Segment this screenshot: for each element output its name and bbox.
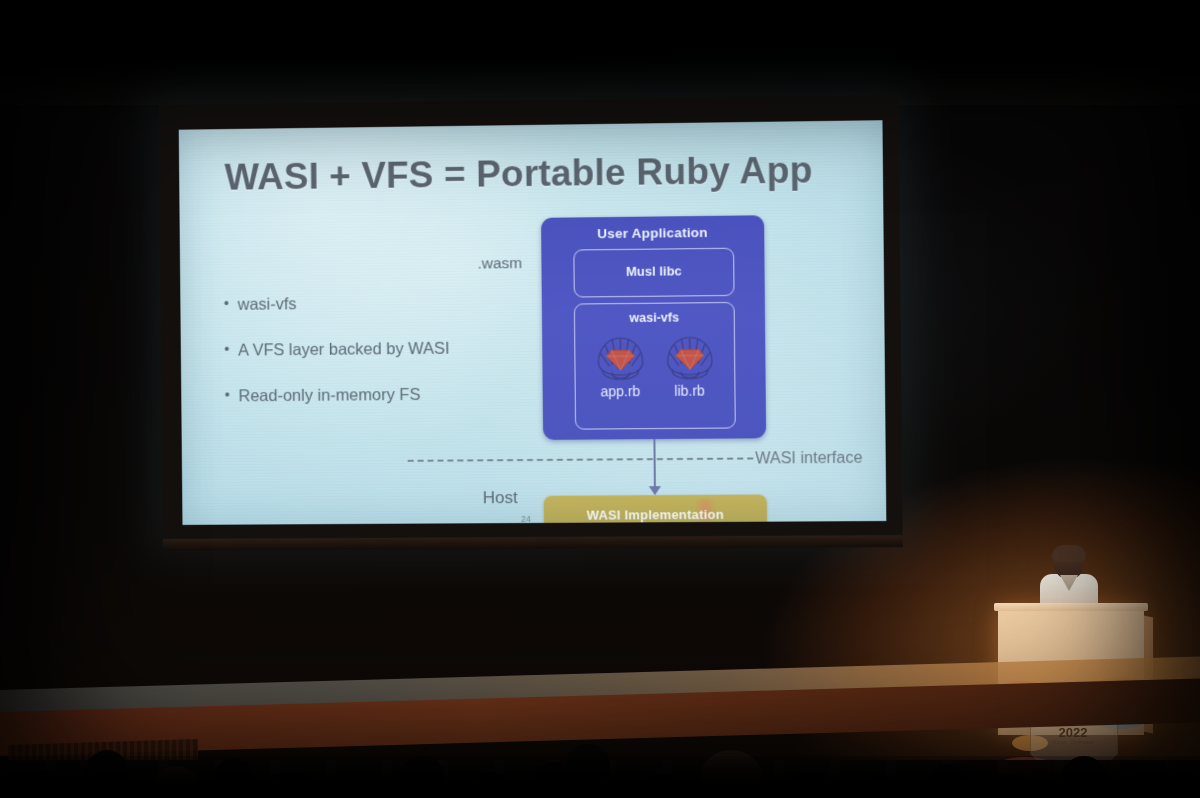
bullet-text: wasi-vfs xyxy=(238,295,297,315)
bullet-marker-icon: • xyxy=(224,341,238,358)
musl-libc-box: Musl libc xyxy=(573,248,734,298)
vfs-file-name: lib.rb xyxy=(659,382,720,399)
bullet-text: A VFS layer backed by WASI xyxy=(238,340,450,362)
slide-title: WASI + VFS = Portable Ruby App xyxy=(224,149,812,198)
speaker-hair xyxy=(1052,545,1086,562)
vfs-file-name: app.rb xyxy=(590,383,650,400)
arrow-down-icon xyxy=(649,486,661,495)
bullet-item: • A VFS layer backed by WASI xyxy=(224,339,522,361)
wasm-label: .wasm xyxy=(477,255,522,273)
slide-bullet-list: • wasi-vfs • A VFS layer backed by WASI … xyxy=(224,293,523,433)
projection-screen: WASI + VFS = Portable Ruby App • wasi-vf… xyxy=(159,95,903,542)
podium-top-surface xyxy=(994,603,1148,611)
wasi-interface-dashed-line xyxy=(408,457,754,461)
bullet-text: Read-only in-memory FS xyxy=(238,385,420,406)
user-application-box: User Application Musl libc wasi-vfs xyxy=(541,215,766,440)
bullet-marker-icon: • xyxy=(224,296,238,313)
user-application-title: User Application xyxy=(541,224,764,242)
ruby-shell-icon xyxy=(594,332,647,383)
dark-ceiling xyxy=(0,0,1200,105)
ruby-shell-icon xyxy=(663,331,716,382)
bullet-item: • Read-only in-memory FS xyxy=(225,385,523,407)
wasi-vfs-label: wasi-vfs xyxy=(575,310,734,326)
wasi-vfs-box: wasi-vfs xyxy=(574,302,736,430)
vfs-file-item: lib.rb xyxy=(659,331,720,399)
wasi-implementation-box: WASI Implementation xyxy=(544,495,767,525)
foreground-shadow xyxy=(0,756,1200,798)
musl-libc-label: Musl libc xyxy=(574,263,733,280)
vfs-file-item: app.rb xyxy=(590,332,651,400)
presentation-slide: WASI + VFS = Portable Ruby App • wasi-vf… xyxy=(179,120,887,525)
bullet-item: • wasi-vfs xyxy=(224,293,522,316)
bullet-marker-icon: • xyxy=(225,387,239,404)
conference-photo-scene: WASI + VFS = Portable Ruby App • wasi-vf… xyxy=(0,0,1200,798)
wasi-implementation-label: WASI Implementation xyxy=(544,507,767,523)
slide-page-number: 24 xyxy=(521,514,531,524)
diagram-connector-line xyxy=(653,439,656,491)
vfs-file-list: app.rb xyxy=(575,331,734,400)
wasi-interface-label: WASI interface xyxy=(755,450,862,469)
host-label: Host xyxy=(483,488,518,508)
